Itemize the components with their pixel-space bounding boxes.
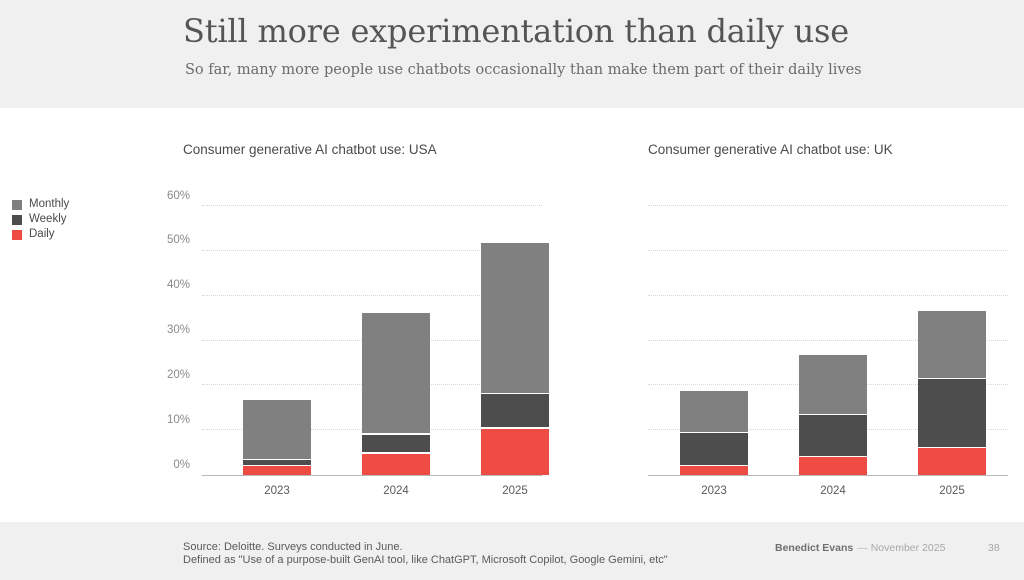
chart-title-uk: Consumer generative AI chatbot use: UK <box>648 142 893 157</box>
bar-segment-daily[interactable] <box>918 448 986 475</box>
bar-segment-monthly[interactable] <box>799 355 867 413</box>
legend-item-monthly: Monthly <box>12 198 132 211</box>
chart-title-usa: Consumer generative AI chatbot use: USA <box>183 142 437 157</box>
bar-group-2023[interactable]: 2023 <box>243 206 311 475</box>
bar-segment-daily[interactable] <box>362 454 430 475</box>
byline-author: Benedict Evans <box>775 542 853 554</box>
bar-group-2023[interactable]: 2023 <box>680 206 748 475</box>
stacked-bar[interactable] <box>799 355 867 475</box>
slide-body: Monthly Weekly Daily Consumer generative… <box>0 108 1024 522</box>
bar-segment-monthly[interactable] <box>243 400 311 458</box>
y-axis-tick-label: 0% <box>173 459 190 471</box>
x-axis-tick-label: 2024 <box>799 485 867 497</box>
page-number: 38 <box>988 542 1000 554</box>
x-axis-line <box>648 475 1008 476</box>
bar-segment-monthly[interactable] <box>481 243 549 392</box>
y-axis-tick-label: 10% <box>167 414 190 426</box>
x-axis-line <box>202 475 542 476</box>
x-axis-tick-label: 2025 <box>918 485 986 497</box>
y-axis-tick-label: 50% <box>167 234 190 246</box>
source-note-line-1: Source: Deloitte. Surveys conducted in J… <box>183 541 403 553</box>
bar-segment-weekly[interactable] <box>918 379 986 446</box>
x-axis-tick-label: 2024 <box>362 485 430 497</box>
stacked-bar[interactable] <box>918 311 986 475</box>
byline-date: November 2025 <box>871 542 946 554</box>
legend-swatch-monthly-icon <box>12 200 22 210</box>
plot-area-usa: 0%10%20%30%40%50%60%202320242025 <box>202 207 542 476</box>
legend-swatch-weekly-icon <box>12 215 22 225</box>
bar-group-2024[interactable]: 2024 <box>362 206 430 475</box>
legend-label-daily: Daily <box>29 228 55 241</box>
bar-group-2025[interactable]: 2025 <box>481 206 549 475</box>
chart-panel-uk: Consumer generative AI chatbot use: UK 2… <box>640 108 1020 522</box>
stacked-bar[interactable] <box>243 400 311 475</box>
stacked-bar[interactable] <box>680 391 748 475</box>
bar-segment-daily[interactable] <box>799 457 867 475</box>
x-axis-tick-label: 2025 <box>481 485 549 497</box>
legend-label-monthly: Monthly <box>29 198 69 211</box>
stacked-bar[interactable] <box>481 243 549 475</box>
bar-segment-daily[interactable] <box>243 466 311 475</box>
bar-group-2024[interactable]: 2024 <box>799 206 867 475</box>
byline: Benedict Evans—November 2025 <box>775 542 945 554</box>
bar-segment-monthly[interactable] <box>918 311 986 378</box>
bar-group-2025[interactable]: 2025 <box>918 206 986 475</box>
chart-panel-usa: Consumer generative AI chatbot use: USA … <box>140 108 560 522</box>
bar-segment-weekly[interactable] <box>362 435 430 453</box>
x-axis-tick-label: 2023 <box>680 485 748 497</box>
bar-segment-daily[interactable] <box>481 429 549 475</box>
legend-item-weekly: Weekly <box>12 213 132 226</box>
bar-segment-monthly[interactable] <box>680 391 748 431</box>
y-axis-tick-label: 40% <box>167 279 190 291</box>
x-axis-tick-label: 2023 <box>243 485 311 497</box>
bar-segment-monthly[interactable] <box>362 313 430 433</box>
y-axis-tick-label: 30% <box>167 324 190 336</box>
bar-segment-weekly[interactable] <box>799 415 867 455</box>
page-subtitle: So far, many more people use chatbots oc… <box>185 62 862 78</box>
stacked-bar[interactable] <box>362 313 430 475</box>
legend-item-daily: Daily <box>12 228 132 241</box>
legend-swatch-daily-icon <box>12 230 22 240</box>
bar-segment-weekly[interactable] <box>481 394 549 427</box>
y-axis-tick-label: 20% <box>167 369 190 381</box>
bar-segment-weekly[interactable] <box>680 433 748 464</box>
source-note-line-2: Defined as "Use of a purpose-built GenAI… <box>183 554 668 566</box>
bar-segment-daily[interactable] <box>680 466 748 475</box>
chart-legend: Monthly Weekly Daily <box>12 198 132 243</box>
plot-area-uk: 202320242025 <box>648 207 1008 476</box>
byline-separator: — <box>857 542 867 554</box>
page-title: Still more experimentation than daily us… <box>183 12 849 50</box>
legend-label-weekly: Weekly <box>29 213 67 226</box>
y-axis-tick-label: 60% <box>167 190 190 202</box>
